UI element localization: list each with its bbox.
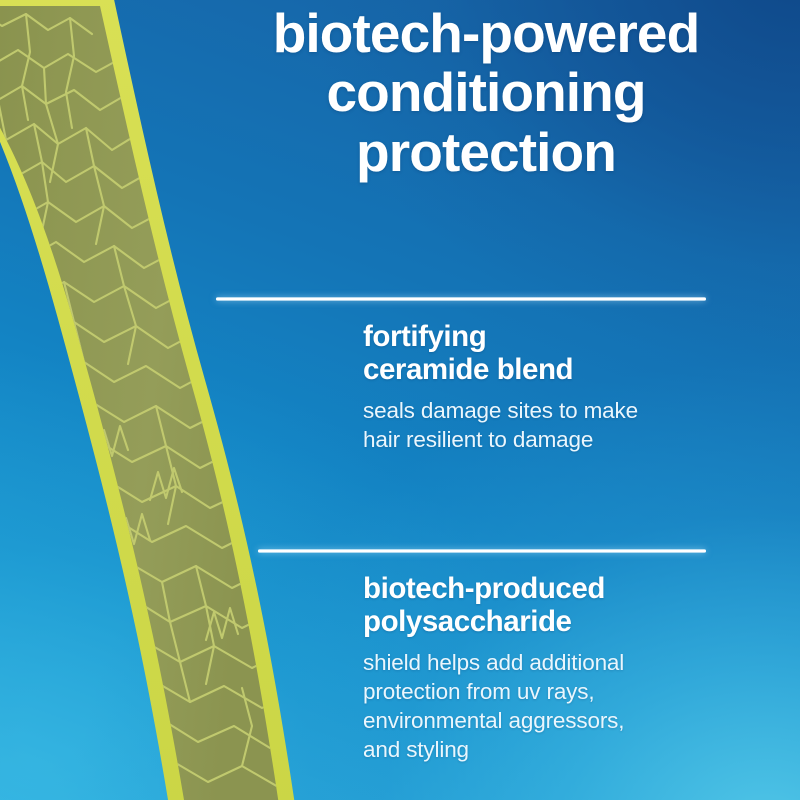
product-benefit-poster: biotech-powered conditioning protection … — [0, 0, 800, 800]
feature-body: seals damage sites to make hair resilien… — [363, 396, 713, 455]
poster-title: biotech-powered conditioning protection — [196, 4, 776, 182]
feature-heading: fortifying ceramide blend — [363, 320, 713, 387]
feature-block-ceramide: fortifying ceramide blend seals damage s… — [363, 320, 713, 454]
divider-rule-2 — [258, 549, 706, 553]
divider-rule-1 — [216, 297, 706, 301]
feature-block-polysaccharide: biotech-produced polysaccharide shield h… — [363, 572, 713, 765]
feature-heading: biotech-produced polysaccharide — [363, 572, 713, 639]
feature-body: shield helps add additional protection f… — [363, 648, 713, 765]
